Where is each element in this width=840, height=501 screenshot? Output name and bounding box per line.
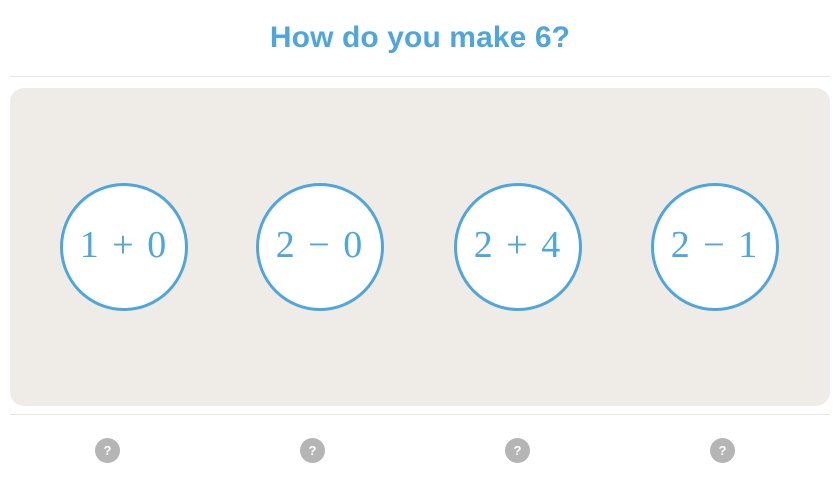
answer-choice-2[interactable]: 2 − 0	[256, 183, 384, 311]
answer-choice-4[interactable]: 2 − 1	[651, 183, 779, 311]
answer-choice-3[interactable]: 2 + 4	[454, 183, 582, 311]
hint-row: ? ? ? ?	[0, 414, 840, 501]
page-title: How do you make 6?	[270, 23, 570, 53]
help-icon-4[interactable]: ?	[710, 438, 735, 463]
help-icon-3[interactable]: ?	[505, 438, 530, 463]
choices-row: 1 + 0 2 − 0 2 + 4 2 − 1	[10, 88, 830, 406]
answer-choice-expression: 2 − 1	[671, 226, 759, 264]
help-icon-2[interactable]: ?	[300, 438, 325, 463]
answer-choice-expression: 2 + 4	[474, 226, 562, 264]
question-header: How do you make 6?	[0, 0, 840, 76]
header-divider	[10, 76, 830, 77]
answer-choice-1[interactable]: 1 + 0	[60, 183, 188, 311]
answer-options-panel: 1 + 0 2 − 0 2 + 4 2 − 1	[10, 88, 830, 406]
quiz-app: How do you make 6? 1 + 0 2 − 0 2 + 4 2 −…	[0, 0, 840, 501]
help-icon-1[interactable]: ?	[95, 438, 120, 463]
answer-choice-expression: 1 + 0	[80, 226, 168, 264]
answer-choice-expression: 2 − 0	[276, 226, 364, 264]
